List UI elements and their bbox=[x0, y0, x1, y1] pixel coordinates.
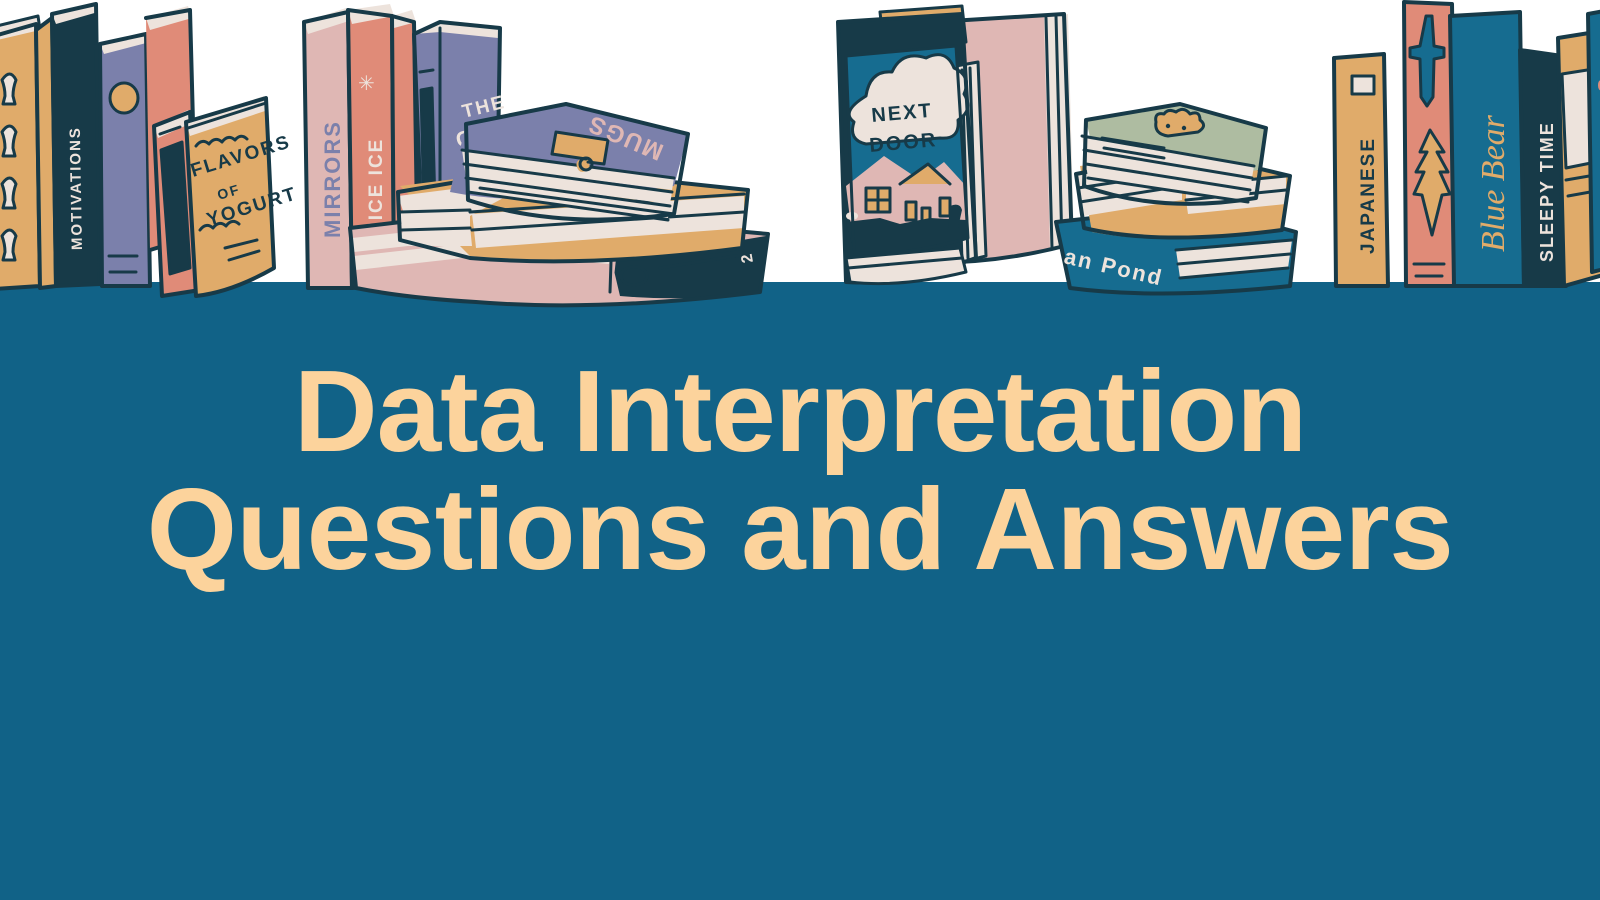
book-spine-text-sleepy-time: SLEEPY TIME bbox=[1537, 121, 1557, 262]
book-spine-text-japanese: JAPANESE bbox=[1358, 137, 1379, 254]
page-title-line-1: Data Interpretation bbox=[294, 352, 1306, 470]
book-sword bbox=[1404, 2, 1456, 286]
book-spine-text-motivations: MOTIVATIONS bbox=[67, 126, 86, 250]
book-next-door: NEXT DOOR bbox=[838, 14, 986, 284]
banner-canvas: .ink{fill:#173A48} .tan{fill:#E0AB6A} .c… bbox=[0, 0, 1600, 900]
book-spine-text-nice-ice: NICE ICE bbox=[366, 138, 387, 236]
book-blue-bear: Blue Bear bbox=[1450, 12, 1524, 286]
page-title-line-2: Questions and Answers bbox=[147, 470, 1454, 588]
page-title: Data Interpretation Questions and Answer… bbox=[0, 330, 1600, 610]
book-spine-text-blue-bear: Blue Bear bbox=[1475, 114, 1512, 252]
book-stack-swan-pond: an Pond bbox=[1056, 104, 1296, 294]
book-japanese: JAPANESE bbox=[1334, 54, 1388, 286]
book-spine-text-edge: S bbox=[1595, 77, 1600, 92]
book-dot-spine bbox=[100, 32, 150, 286]
books-illustration: .ink{fill:#173A48} .tan{fill:#E0AB6A} .c… bbox=[0, 0, 1600, 330]
snowflake-icon: ✳ bbox=[358, 73, 375, 95]
book-spine-text-mirrors: MIRRORS bbox=[320, 120, 345, 238]
books-illustration-svg: .ink{fill:#173A48} .tan{fill:#E0AB6A} .c… bbox=[0, 0, 1600, 330]
bear-icon bbox=[1156, 109, 1204, 136]
book-mirrors: MIRRORS bbox=[304, 8, 352, 288]
book-flavors-of-yogurt: FLAVORS OF YOGURT bbox=[186, 96, 300, 296]
book-motivations: MOTIVATIONS bbox=[52, 2, 100, 286]
book-edge-teal: S bbox=[1588, 8, 1600, 272]
book-pawn-pattern bbox=[0, 16, 40, 290]
